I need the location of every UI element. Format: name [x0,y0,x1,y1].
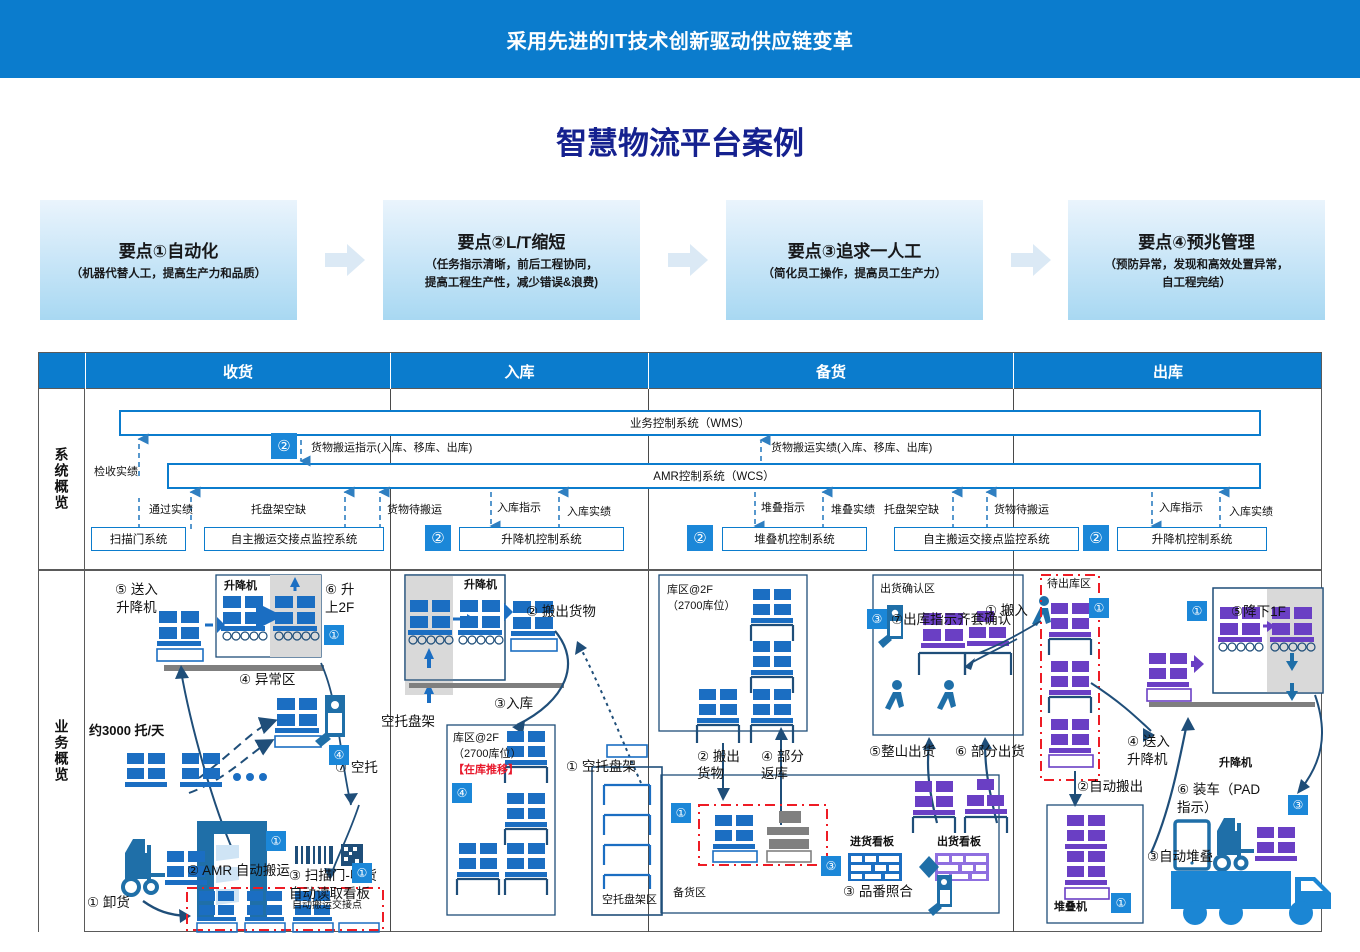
keypoints-row: 要点①自动化 （机器代替人工，提高生产力和品质） 要点②L/T缩短 （任务指示清… [40,200,1325,320]
top-banner: 采用先进的IT技术创新驱动供应链变革 [0,0,1360,78]
label-stacker: 堆叠机 [1054,900,1087,914]
label-down-to-1f: ⑤降下1F [1231,603,1286,621]
chevron-right-icon-1 [325,244,365,276]
keypoint-box-1[interactable]: 要点①自动化 （机器代替人工，提高生产力和品质） [40,200,297,320]
keypoint-box-3[interactable]: 要点③追求一人工 （简化员工操作，提高员工生产力） [726,200,983,320]
outbound-artwork [39,353,1323,933]
label-lift-c4: 升降机 [1219,756,1252,770]
label-pending-outbound-area: 待出库区 [1047,577,1091,591]
keypoint-box-2[interactable]: 要点②L/T缩短 （任务指示清晰，前后工程协同， 提高工程生产性，减少错误&浪费… [383,200,640,320]
keypoint-subtitle: （任务指示清晰，前后工程协同， 提高工程生产性，减少错误&浪费) [425,257,598,293]
keypoint-title: 要点③追求一人工 [788,237,921,262]
business-overview-layer: ⑤ 送入 升降机 升降机 ⑥ 升 上2F ④ 异常区 约3000 托/天 ③ 扫… [39,353,1321,931]
keypoint-title: 要点②L/T缩短 [458,228,566,253]
banner-title: 采用先进的IT技术创新驱动供应链变革 [507,25,854,54]
keypoint-subtitle: （机器代替人工，提高生产力和品质） [71,266,267,284]
label-loading-pad: ⑥ 装车（PAD 指示） [1177,781,1260,816]
keypoint-subtitle: （预防异常，发现和高效处置异常， 自工程完结） [1105,257,1289,293]
badge-outbound-1a: ① [1089,598,1109,618]
label-auto-carry-out: ②自动搬出 [1077,778,1143,796]
label-send-to-lift-c4: ④ 送入 升降机 [1127,733,1170,768]
chevron-right-icon-2 [668,244,708,276]
keypoint-subtitle: （简化员工操作，提高员工生产力） [763,266,947,284]
keypoint-box-4[interactable]: 要点④预兆管理 （预防异常，发现和高效处置异常， 自工程完结） [1068,200,1325,320]
keypoint-title: 要点④预兆管理 [1138,228,1254,253]
page-title: 智慧物流平台案例 [0,118,1360,163]
keypoint-title: 要点①自动化 [119,237,218,262]
process-matrix: 收货 入库 备货 出库 系统概览 业务概览 业务控制系统（WMS） AMR控制系… [38,352,1322,932]
badge-outbound-1b: ① [1187,601,1207,621]
badge-outbound-3: ③ [1288,795,1308,815]
label-auto-stacking: ③自动堆叠 [1147,848,1213,866]
chevron-right-icon-3 [1011,244,1051,276]
badge-outbound-1c: ① [1111,893,1131,913]
